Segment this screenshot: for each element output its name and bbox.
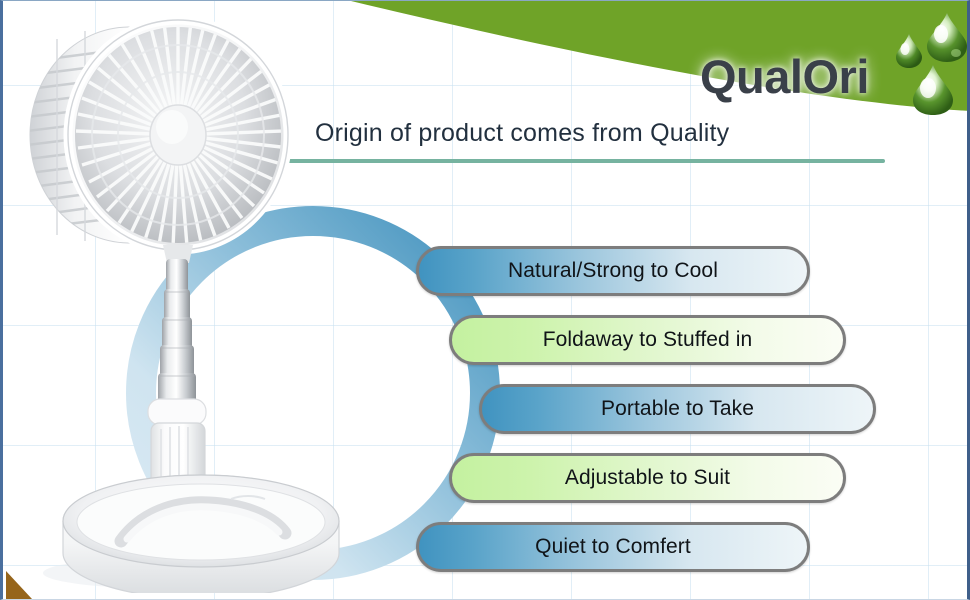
feature-pill-label: Foldaway to Stuffed in xyxy=(543,328,753,352)
tagline: Origin of product comes from Quality xyxy=(315,119,729,148)
product-banner: QualOri Origin of product comes from Qua… xyxy=(0,0,970,600)
header-divider xyxy=(275,159,885,163)
feature-pill-natural-strong-to-cool[interactable]: Natural/Strong to Cool xyxy=(416,246,810,296)
feature-pill-adjustable-to-suit[interactable]: Adjustable to Suit xyxy=(449,453,846,503)
folding-desk-fan-image xyxy=(23,13,373,593)
water-droplet-large-icon xyxy=(923,11,970,63)
water-droplet-medium-icon xyxy=(909,63,957,117)
feature-pill-quiet-to-comfert[interactable]: Quiet to Comfert xyxy=(416,522,810,572)
corner-accent-triangle xyxy=(6,571,32,599)
feature-pill-label: Quiet to Comfert xyxy=(535,535,691,559)
feature-pill-label: Natural/Strong to Cool xyxy=(508,259,718,283)
feature-pill-foldaway-to-stuffed-in[interactable]: Foldaway to Stuffed in xyxy=(449,315,846,365)
feature-pill-portable-to-take[interactable]: Portable to Take xyxy=(479,384,876,434)
brand-name: QualOri xyxy=(700,53,869,100)
feature-pill-label: Portable to Take xyxy=(601,397,754,421)
water-droplet-small-icon xyxy=(893,33,925,69)
feature-pill-label: Adjustable to Suit xyxy=(565,466,730,490)
